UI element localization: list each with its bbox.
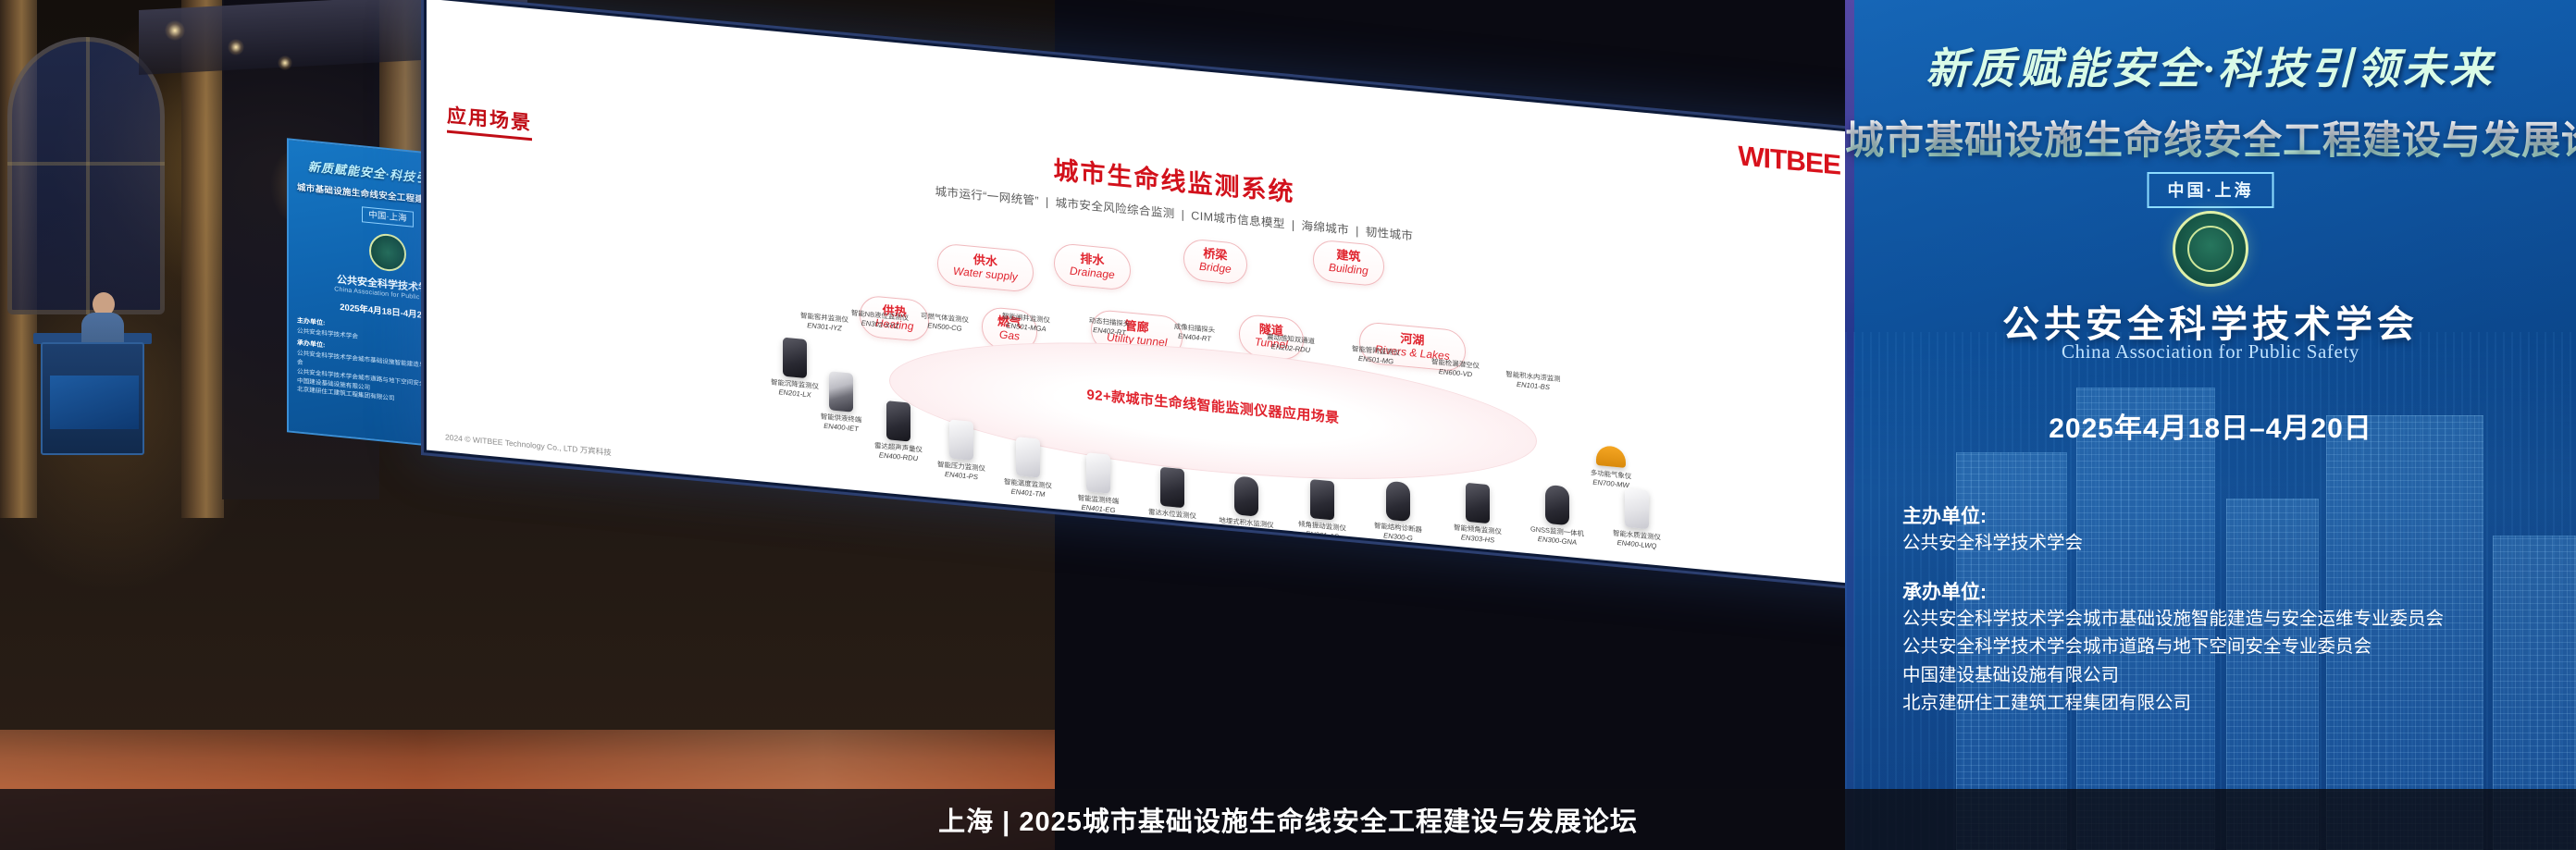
banner-location-chip: 中国·上海 [2148, 172, 2274, 208]
banner-event-date: 2025年4月18日–4月20日 [1845, 405, 2576, 446]
device-image [1016, 437, 1040, 477]
co-organizer-label: 承办单位: [1902, 577, 2548, 605]
mini-banner-location-chip: 中国·上海 [362, 206, 414, 227]
bubble-label-en: Building [1329, 261, 1368, 277]
device-item[interactable]: 多功能气象仪 EN700-MW [1572, 429, 1650, 492]
slide-copyright: 2024 © WITBEE Technology Co., LTD 万宾科技 [445, 431, 612, 458]
device-item[interactable]: 智能结构诊断器 EN300-G [1359, 478, 1437, 546]
banner-organizer-block: 主办单位: 公共安全科学技术学会 承办单位: 公共安全科学技术学会城市基础设施智… [1902, 481, 2548, 717]
device-image [1086, 452, 1110, 493]
subtitle-part: 城市安全风险综合监测 [1056, 196, 1175, 220]
screenshot-root: 新质赋能安全·科技引领未来 城市基础设施生命线安全工程建设与发展论坛 中国·上海… [0, 0, 2576, 850]
device-image [1160, 467, 1184, 508]
banner-slogan: 新质赋能安全·科技引领未来 [1845, 35, 2576, 96]
bubble-drainage[interactable]: 排水 Drainage [1054, 242, 1131, 291]
device-image [949, 419, 973, 460]
bubble-building[interactable]: 建筑 Building [1313, 239, 1384, 287]
device-image [1386, 481, 1410, 522]
witbee-wordmark: WITBEE [1738, 141, 1840, 181]
podium [41, 342, 144, 455]
association-seal-icon [2173, 211, 2248, 287]
device-item[interactable]: GNSS监测一体机 EN300-GNA [1518, 482, 1596, 549]
device-item[interactable]: 智能监测终端 EN401-EG [1059, 450, 1137, 518]
spotlight [228, 39, 244, 55]
subtitle-part: 韧性城市 [1366, 226, 1414, 243]
device-image [1625, 488, 1649, 529]
event-banner: 新质赋能安全·科技引领未来 城市基础设施生命线安全工程建设与发展论坛 中国·上海… [1845, 0, 2576, 850]
bubble-label-en: Bridge [1199, 260, 1232, 276]
device-name: 地埋式积水监测仪 [1207, 515, 1285, 532]
bubble-bridge[interactable]: 桥梁 Bridge [1183, 238, 1247, 285]
co-organizer-line: 公共安全科学技术学会城市基础设施智能建造与安全运维专业委员会 [1902, 605, 2548, 633]
spotlight [278, 55, 292, 70]
caption-text: 上海 | 2025城市基础设施生命线安全工程建设与发展论坛 [938, 800, 1638, 839]
caption-bar: 上海 | 2025城市基础设施生命线安全工程建设与发展论坛 [0, 789, 2576, 850]
bubble-label-en: Drainage [1070, 265, 1115, 281]
subtitle-part: 城市运行“一网统管” [935, 185, 1039, 208]
device-item[interactable]: 智能水质监测仪 EN400-LWQ [1598, 486, 1676, 553]
bubble-water-supply[interactable]: 供水 Water supply [937, 242, 1034, 293]
mini-banner-association-seal-icon [369, 232, 406, 273]
subtitle-part: 海绵城市 [1301, 219, 1349, 237]
device-image [886, 400, 910, 441]
device-item[interactable]: 雷达水位监测仪 EN200-D [1133, 464, 1211, 532]
podium-screen [50, 376, 139, 429]
subtitle-part: CIM城市信息模型 [1191, 209, 1285, 231]
co-organizer-line: 北京建研住工建筑工程集团有限公司 [1902, 689, 2548, 717]
banner-forum-title: 城市基础设施生命线安全工程建设与发展论坛 [1845, 109, 2576, 166]
device-image [1545, 485, 1569, 525]
organizer-label: 主办单位: [1902, 501, 2548, 529]
device-item[interactable]: 智能倾角监测仪 EN303-HS [1439, 480, 1517, 548]
device-item[interactable]: 智能温度监测仪 EN401-TM [989, 434, 1067, 501]
device-image [1466, 483, 1490, 524]
device-item[interactable]: 地埋式积水监测仪 EN200-C [1207, 474, 1285, 541]
arched-window [7, 37, 165, 314]
device-item[interactable]: 倾角振动监测仪 EN301-AS [1283, 476, 1361, 544]
co-organizer-line: 中国建设基础设施有限公司 [1902, 661, 2548, 689]
co-organizer-line: 公共安全科学技术学会城市道路与地下空间安全专业委员会 [1902, 633, 2548, 660]
device-image-dome [1596, 445, 1626, 468]
device-image [1234, 475, 1258, 516]
device-name: 雷达水位监测仪 [1133, 506, 1211, 523]
wood-column [181, 0, 224, 518]
banner-association-en: China Association for Public Safety [1845, 340, 2576, 363]
spotlight [165, 20, 185, 41]
device-image [829, 371, 853, 412]
organizer-line: 公共安全科学技术学会 [1902, 529, 2548, 557]
device-image [1310, 479, 1334, 520]
